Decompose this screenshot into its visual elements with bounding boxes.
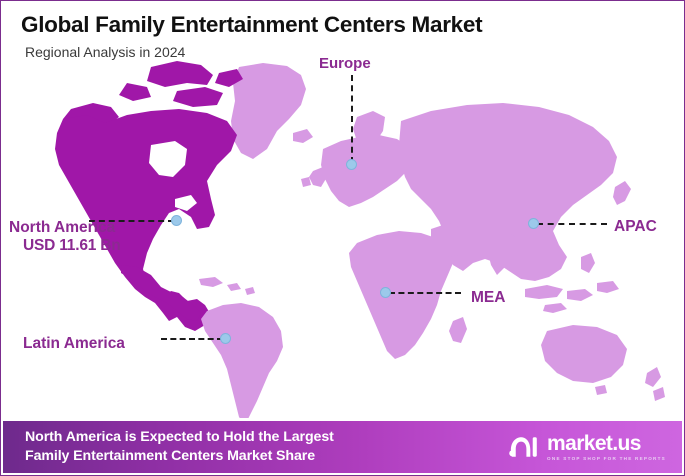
logo-brand-name: market.us	[547, 433, 666, 454]
marker-europe[interactable]	[346, 159, 357, 170]
footer-line-2: Family Entertainment Centers Market Shar…	[25, 447, 334, 466]
region-arctic-islands	[119, 61, 243, 107]
marker-latin-america[interactable]	[220, 333, 231, 344]
region-british-isles	[301, 167, 327, 187]
region-australia	[541, 325, 627, 383]
region-label-north-america-name: North America	[9, 219, 115, 236]
marker-apac[interactable]	[528, 218, 539, 229]
logo-mark-icon	[507, 434, 540, 460]
region-value-north-america: USD 11.61 Bn	[23, 237, 121, 255]
page-title: Global Family Entertainment Centers Mark…	[21, 13, 685, 38]
footer-text: North America is Expected to Hold the La…	[25, 428, 334, 465]
logo-tagline: ONE STOP SHOP FOR THE REPORTS	[547, 457, 666, 462]
footer-line-1: North America is Expected to Hold the La…	[25, 428, 334, 447]
region-iceland	[293, 129, 313, 143]
infographic-card: Global Family Entertainment Centers Mark…	[0, 0, 685, 476]
page-subtitle: Regional Analysis in 2024	[25, 45, 685, 60]
region-philippines	[581, 253, 595, 273]
region-label-north-america: North America USD 11.61 Bn	[9, 219, 121, 256]
region-south-america	[201, 303, 283, 418]
region-label-latin-america: Latin America	[23, 335, 125, 353]
region-africa	[349, 231, 453, 359]
header: Global Family Entertainment Centers Mark…	[1, 1, 685, 60]
marker-north-america[interactable]	[171, 215, 182, 226]
region-label-mea: MEA	[471, 289, 505, 307]
region-greenland	[231, 63, 306, 159]
leader-line-latin-america	[161, 338, 223, 340]
footer-banner: North America is Expected to Hold the La…	[3, 421, 682, 473]
region-madagascar	[449, 317, 467, 343]
logo-text-block: market.us ONE STOP SHOP FOR THE REPORTS	[547, 433, 666, 462]
region-japan	[613, 181, 631, 205]
marker-mea[interactable]	[380, 287, 391, 298]
region-label-apac: APAC	[614, 218, 657, 236]
region-indonesia	[525, 281, 619, 313]
market-us-logo[interactable]: market.us ONE STOP SHOP FOR THE REPORTS	[507, 433, 666, 462]
region-new-zealand	[645, 367, 665, 401]
region-caribbean	[199, 277, 255, 295]
gulf-of-mexico	[157, 263, 197, 287]
leader-line-europe	[351, 75, 353, 163]
region-tasmania	[595, 385, 607, 395]
leader-line-apac	[537, 223, 607, 225]
leader-line-mea	[389, 292, 461, 294]
